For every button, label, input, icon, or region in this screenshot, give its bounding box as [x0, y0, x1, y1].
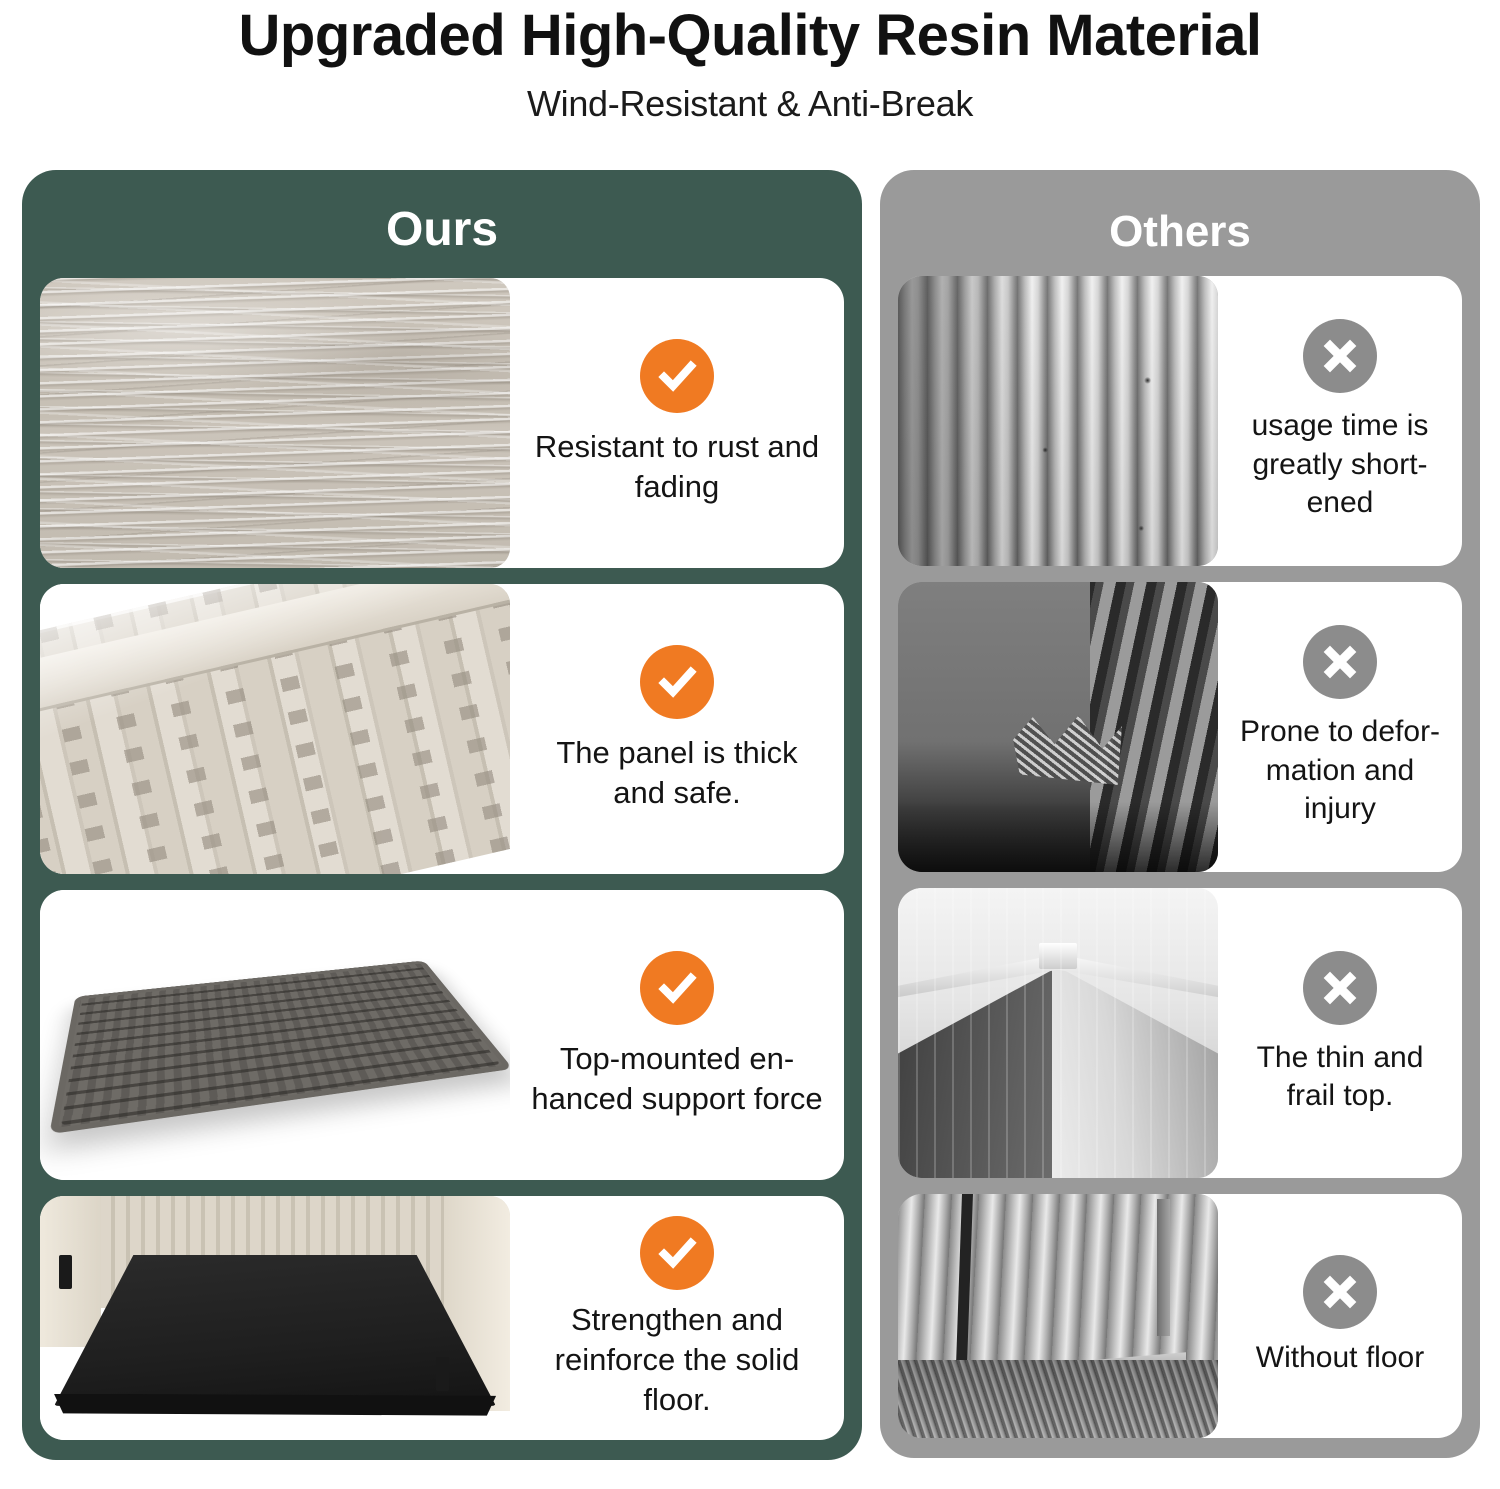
comparison-infographic: Upgraded High-Quality Resin Material Win…: [0, 0, 1500, 1489]
others-row: Without floor: [898, 1194, 1462, 1438]
photo-dark-gray-ribbed-floor-panel: [40, 890, 510, 1180]
others-row: Prone to defor-mation and injury: [898, 582, 1462, 872]
others-row-label: usage time is greatly short-ened: [1232, 407, 1448, 522]
ours-row-content: The panel is thick and safe.: [510, 584, 844, 874]
check-circle-icon: [640, 645, 714, 719]
ours-row: The panel is thick and safe.: [40, 584, 844, 874]
ours-row-content: Strengthen and reinforce the solid floor…: [510, 1196, 844, 1440]
others-row-list: usage time is greatly short-ened: [898, 276, 1462, 1438]
ours-row: Strengthen and reinforce the solid floor…: [40, 1196, 844, 1440]
check-circle-icon: [640, 339, 714, 413]
ours-row-label: Top-mounted en-hanced support force: [527, 1039, 827, 1118]
cross-circle-icon: [1303, 319, 1377, 393]
ours-row-list: Resistant to rust and fading: [40, 278, 844, 1440]
ours-row: Resistant to rust and fading: [40, 278, 844, 568]
others-row: usage time is greatly short-ened: [898, 276, 1462, 566]
photo-thin-metal-shed-roof-corner: [898, 888, 1218, 1178]
ours-row-label: The panel is thick and safe.: [527, 733, 827, 812]
ours-row: Top-mounted en-hanced support force: [40, 890, 844, 1180]
ours-row-content: Resistant to rust and fading: [510, 278, 844, 568]
cross-circle-icon: [1303, 625, 1377, 699]
photo-angled-beige-slotted-resin-panels: [40, 584, 510, 874]
page-title: Upgraded High-Quality Resin Material: [0, 6, 1500, 67]
comparison-columns: Ours Resistant to rust and: [0, 170, 1500, 1470]
page-subtitle: Wind-Resistant & Anti-Break: [0, 83, 1500, 125]
photo-dark-floor-inside-beige-shed-base: [40, 1196, 510, 1440]
ours-column-header: Ours: [40, 184, 844, 278]
others-panel: Others usage time is greatl: [880, 170, 1480, 1458]
ours-row-label: Strengthen and reinforce the solid floor…: [527, 1300, 827, 1419]
others-row: The thin and frail top.: [898, 888, 1462, 1178]
ours-panel: Ours Resistant to rust and: [22, 170, 862, 1460]
others-row-content: The thin and frail top.: [1218, 888, 1462, 1178]
others-row-content: usage time is greatly short-ened: [1218, 276, 1462, 566]
cross-circle-icon: [1303, 951, 1377, 1025]
others-row-label: The thin and frail top.: [1232, 1039, 1448, 1116]
others-row-content: Without floor: [1218, 1194, 1462, 1438]
others-row-content: Prone to defor-mation and injury: [1218, 582, 1462, 872]
photo-grayscale-corrugated-rusted-metal-sheet: [898, 276, 1218, 566]
photo-beige-woodgrain-resin-siding-texture: [40, 278, 510, 568]
check-circle-icon: [640, 951, 714, 1025]
photo-deformed-torn-metal-corner: [898, 582, 1218, 872]
ours-column: Ours Resistant to rust and: [22, 170, 862, 1460]
others-row-label: Prone to defor-mation and injury: [1232, 713, 1448, 828]
photo-corrugated-wall-over-dry-grass-no-floor: [898, 1194, 1218, 1438]
ours-row-label: Resistant to rust and fading: [527, 427, 827, 506]
others-row-label: Without floor: [1256, 1339, 1424, 1377]
check-circle-icon: [640, 1216, 714, 1290]
others-column: Others usage time is greatl: [880, 170, 1480, 1458]
heading-block: Upgraded High-Quality Resin Material Win…: [0, 0, 1500, 125]
ours-row-content: Top-mounted en-hanced support force: [510, 890, 844, 1180]
others-column-header: Others: [898, 184, 1462, 276]
cross-circle-icon: [1303, 1255, 1377, 1329]
